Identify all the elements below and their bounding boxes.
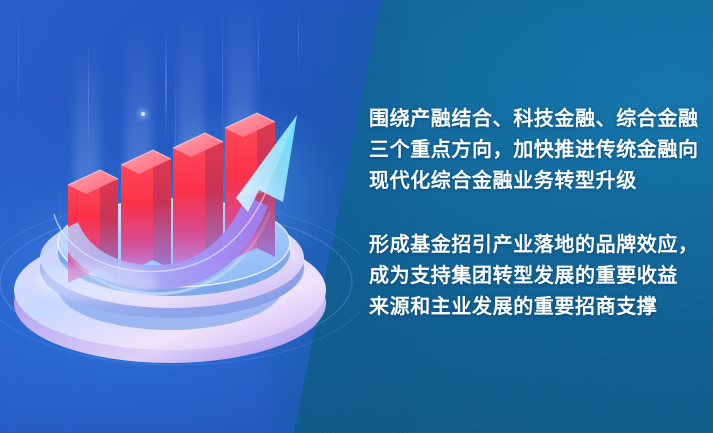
paragraph-2-line-3: 来源和主业发展的重要招商支撑: [369, 292, 689, 323]
paragraph-2-line-2: 成为支持集团转型发展的重要收益: [369, 261, 689, 292]
paragraph-2: 形成基金招引产业落地的品牌效应， 成为支持集团转型发展的重要收益 来源和主业发展…: [369, 230, 689, 323]
slide-canvas: 围绕产融结合、科技金融、综合金融 三个重点方向，加快推进传统金融向 现代化综合金…: [0, 0, 713, 433]
podium-sheen: [34, 264, 158, 300]
paragraph-1-line-1: 围绕产融结合、科技金融、综合金融: [369, 104, 689, 135]
paragraph-1-line-3: 现代化综合金融业务转型升级: [369, 166, 689, 197]
paragraph-1-line-2: 三个重点方向，加快推进传统金融向: [369, 135, 689, 166]
paragraph-1: 围绕产融结合、科技金融、综合金融 三个重点方向，加快推进传统金融向 现代化综合金…: [369, 104, 689, 197]
bar-2: [121, 150, 171, 275]
growth-chart-illustration: [0, 0, 360, 433]
paragraph-2-line-1: 形成基金招引产业落地的品牌效应，: [369, 230, 689, 261]
slide-copy: 围绕产融结合、科技金融、综合金融 三个重点方向，加快推进传统金融向 现代化综合金…: [369, 104, 689, 323]
